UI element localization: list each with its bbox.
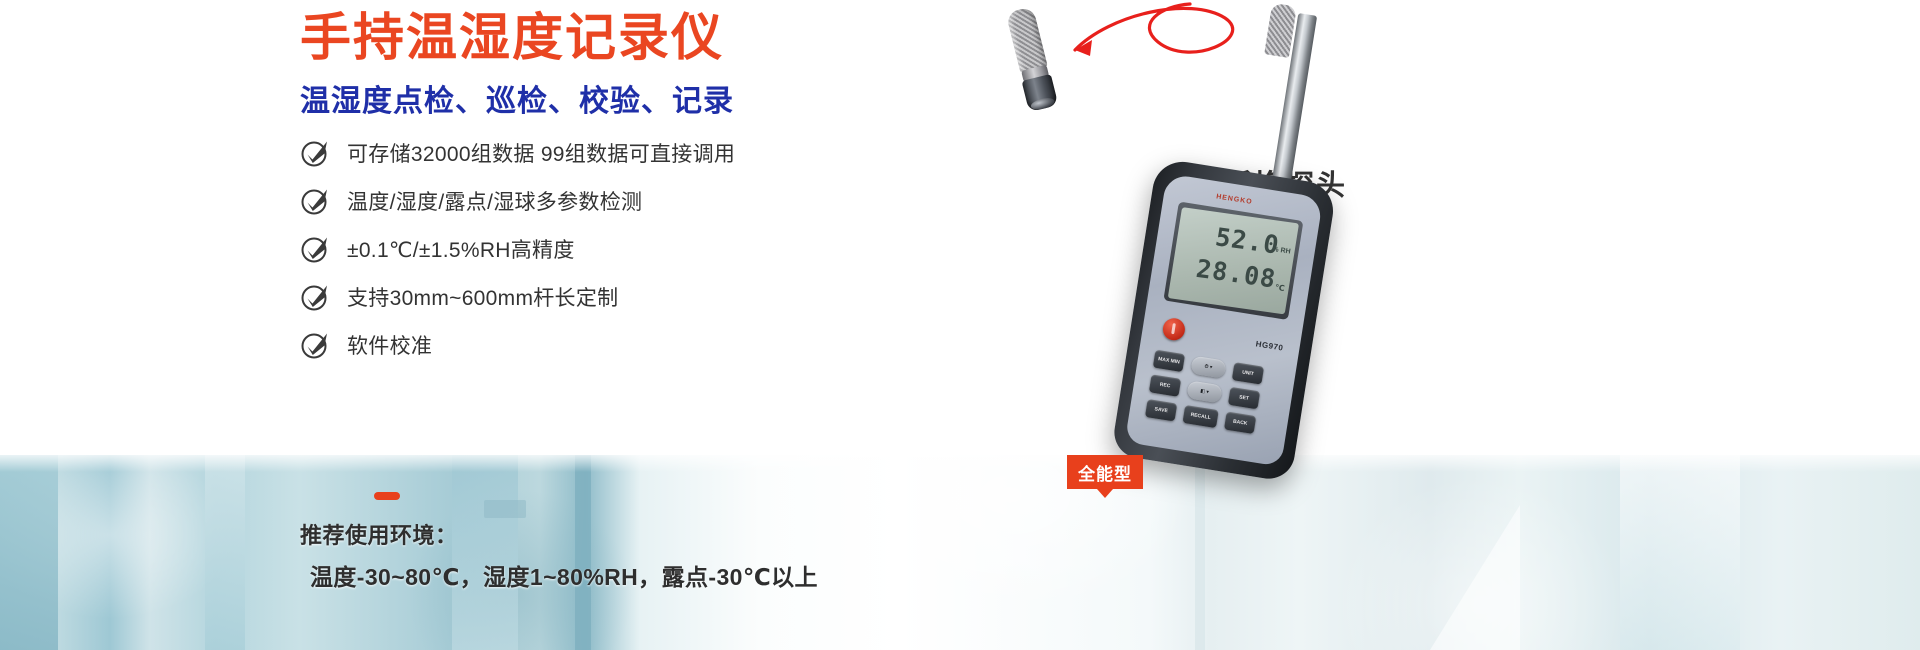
- key-maxmin[interactable]: MAX MIN: [1153, 350, 1185, 372]
- key-recall[interactable]: RECALL: [1182, 405, 1218, 428]
- lcd-temperature-unit: ℃: [1274, 283, 1285, 293]
- feature-list: 可存储32000组数据 99组数据可直接调用 温度/湿度/露点/湿球多参数检测 …: [300, 130, 1040, 370]
- page-subtitle: 温湿度点检、巡检、校验、记录: [300, 76, 734, 120]
- device-model-label: HG970: [1255, 339, 1284, 352]
- device-body: HENGKO 52.0 % RH 28.08 ℃ HG970 MAX MIN ⏱…: [1111, 158, 1338, 483]
- key-set[interactable]: SET: [1228, 387, 1260, 409]
- lcd-humidity-value: 52.0: [1213, 222, 1281, 260]
- power-button[interactable]: [1161, 317, 1186, 342]
- check-circle-icon: [300, 185, 331, 216]
- list-item-label: 可存储32000组数据 99组数据可直接调用: [347, 138, 735, 168]
- device-illustration: HENGKO 52.0 % RH 28.08 ℃ HG970 MAX MIN ⏱…: [1035, 0, 1455, 650]
- key-back[interactable]: BACK: [1224, 412, 1256, 434]
- page-title: 手持温湿度记录仪: [300, 8, 724, 68]
- key-rec[interactable]: REC: [1149, 374, 1181, 396]
- key-backlight[interactable]: ◧ ▾: [1186, 380, 1222, 403]
- list-item-label: ±0.1℃/±1.5%RH高精度: [347, 234, 575, 264]
- list-item-label: 软件校准: [347, 330, 432, 360]
- check-circle-icon: [300, 281, 331, 312]
- lab-photo-background: [0, 455, 1920, 650]
- environment-label: 推荐使用环境：: [300, 518, 458, 550]
- device-lcd-screen: 52.0 % RH 28.08 ℃: [1168, 207, 1299, 314]
- device-screen-bezel: 52.0 % RH 28.08 ℃: [1163, 201, 1303, 319]
- list-item-label: 支持30mm~600mm杆长定制: [347, 282, 618, 312]
- device-keypad: MAX MIN ⏱ ▾ UNIT REC ◧ ▾ SET SAVE RECALL…: [1140, 349, 1282, 456]
- list-item: 温度/湿度/露点/湿球多参数检测: [300, 178, 1040, 223]
- list-item: 支持30mm~600mm杆长定制: [300, 274, 1040, 319]
- accent-dash: [374, 492, 400, 500]
- product-banner: 手持温湿度记录仪 温湿度点检、巡检、校验、记录 可存储32000组数据 99组数…: [0, 0, 1920, 650]
- key-timer[interactable]: ⏱ ▾: [1190, 356, 1226, 379]
- list-item: 软件校准: [300, 322, 1040, 367]
- key-unit[interactable]: UNIT: [1232, 362, 1264, 384]
- environment-value: 温度-30~80℃，湿度1~80%RH，露点-30℃以上: [310, 558, 818, 592]
- key-save[interactable]: SAVE: [1145, 399, 1177, 421]
- status-badge: 全能型: [1067, 455, 1143, 489]
- list-item: 可存储32000组数据 99组数据可直接调用: [300, 130, 1040, 175]
- device-brand: HENGKO: [1216, 193, 1253, 206]
- check-circle-icon: [300, 329, 331, 360]
- list-item-label: 温度/湿度/露点/湿球多参数检测: [347, 186, 642, 216]
- background-fade: [0, 450, 1920, 472]
- lcd-temperature-value: 28.08: [1194, 254, 1278, 294]
- list-item: ±0.1℃/±1.5%RH高精度: [300, 226, 1040, 271]
- check-circle-icon: [300, 233, 331, 264]
- check-circle-icon: [300, 137, 331, 168]
